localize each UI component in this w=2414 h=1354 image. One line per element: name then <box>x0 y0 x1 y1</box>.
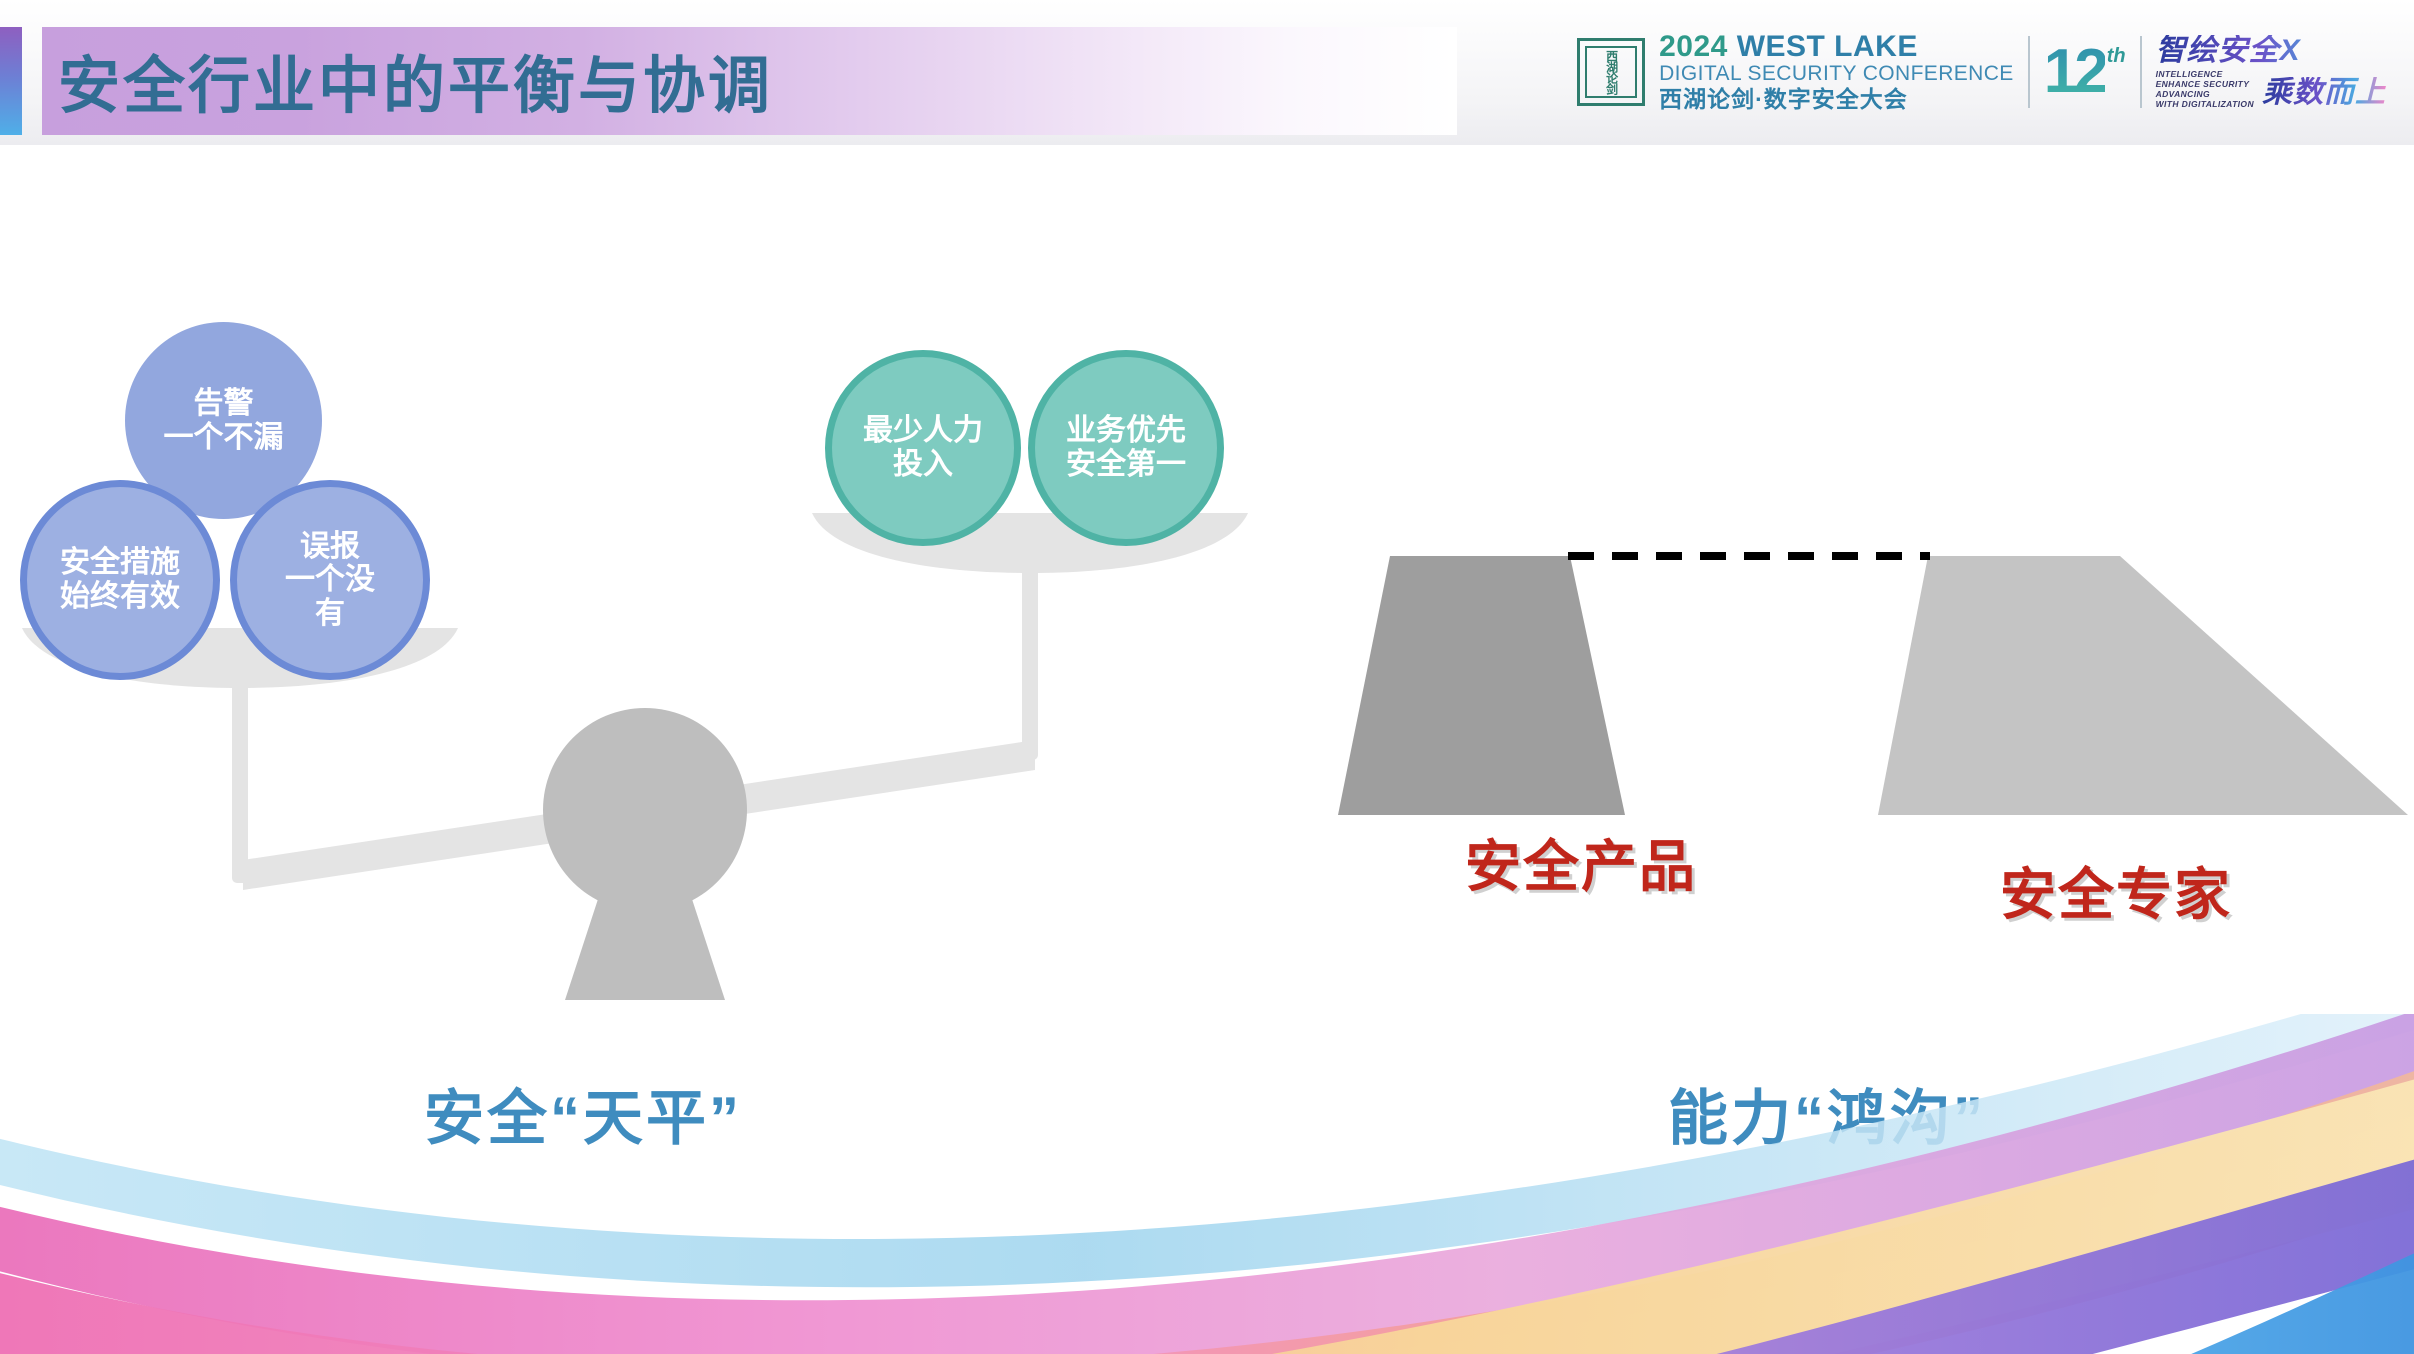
stand-head <box>543 708 747 912</box>
seal-text: 西湖论剑 <box>1605 50 1618 94</box>
bubble-min-manpower[interactable]: 最少人力 投入 <box>825 350 1021 546</box>
label-security-expert: 安全专家 <box>2000 850 2232 931</box>
conference-logo-words: 2024 WEST LAKE DIGITAL SECURITY CONFEREN… <box>1659 32 2014 112</box>
bottom-ribbon-decoration <box>0 1014 2414 1354</box>
pillar-security-expert[interactable] <box>1878 556 2408 815</box>
left-hanger-rod <box>232 655 248 883</box>
slogan-logo: 智绘安全X INTELLIGENCE ENHANCE SECURITY ADVA… <box>2156 35 2386 109</box>
page-title: 安全行业中的平衡与协调 <box>58 26 1418 134</box>
conference-logo-line2: DIGITAL SECURITY CONFERENCE <box>1659 62 2014 86</box>
edition-badge: 12 th <box>2044 41 2126 103</box>
conference-logo-line1: 2024 WEST LAKE <box>1659 32 2014 62</box>
slide-canvas: 安全行业中的平衡与协调 西湖论剑 2024 WEST LAKE DIGITAL … <box>0 0 2414 1354</box>
slogan-line2: 乘数而上 <box>2262 77 2386 109</box>
conference-logo-line3: 西湖论剑·数字安全大会 <box>1659 86 2014 112</box>
bubble-no-false-positive[interactable]: 误报 一个没 有 <box>230 480 430 680</box>
logo-divider-1 <box>2028 36 2030 108</box>
logo-divider-2 <box>2140 36 2142 108</box>
edition-ordinal: th <box>2107 45 2126 68</box>
slogan-line1: 智绘安全X <box>2156 35 2386 67</box>
title-accent-bar <box>0 27 22 135</box>
bubble-business-first[interactable]: 业务优先 安全第一 <box>1028 350 1224 546</box>
west-lake-seal-icon: 西湖论剑 <box>1577 38 1645 106</box>
label-security-product: 安全产品 <box>1465 822 1697 903</box>
stand-base <box>565 893 725 1000</box>
header-logo-cluster: 西湖论剑 2024 WEST LAKE DIGITAL SECURITY CON… <box>1577 24 2386 120</box>
edition-number: 12 <box>2044 41 2105 103</box>
ability-gap-graphic <box>1330 530 2414 820</box>
bubble-measures-effective[interactable]: 安全措施 始终有效 <box>20 480 220 680</box>
slogan-subtext: INTELLIGENCE ENHANCE SECURITY ADVANCING … <box>2156 69 2254 109</box>
pillar-security-product[interactable] <box>1338 556 1625 815</box>
conference-year: 2024 <box>1659 30 1728 63</box>
conference-name-en: WEST LAKE <box>1737 30 1918 63</box>
